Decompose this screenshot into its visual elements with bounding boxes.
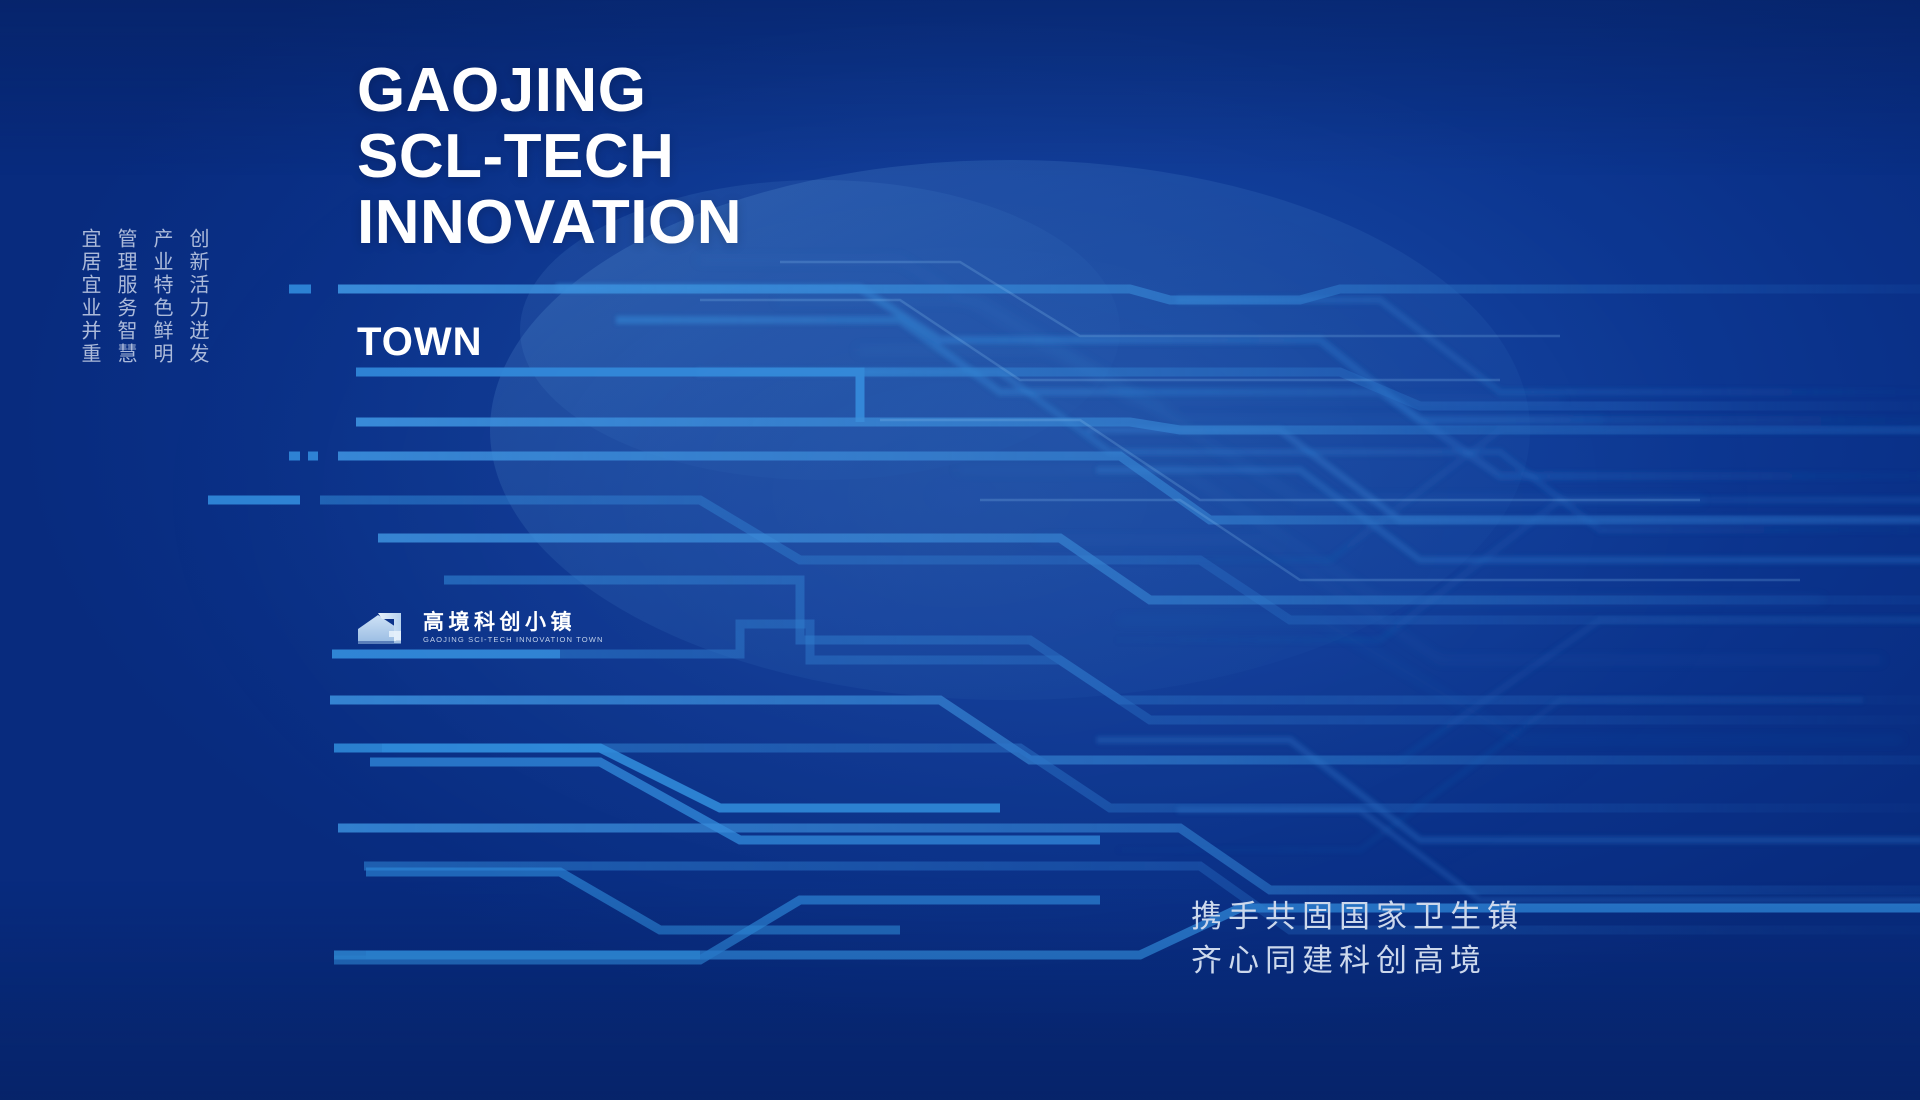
headline-line-3: INNOVATION (357, 190, 742, 256)
circuit-trace-artwork (0, 0, 1920, 1100)
poster-headline: GAOJING SCL-TECH INNOVATION (357, 58, 742, 256)
headline-line-2: SCL-TECH (357, 124, 742, 190)
headline-line-1: GAOJING (357, 58, 742, 124)
logo-name-en: GAOJING SCI-TECH INNOVATION TOWN (423, 634, 604, 646)
house-building-icon (356, 607, 412, 649)
logo-lockup: 高境科创小镇 GAOJING SCI-TECH INNOVATION TOWN (356, 607, 604, 649)
logo-text-block: 高境科创小镇 GAOJING SCI-TECH INNOVATION TOWN (423, 611, 604, 646)
vertical-slogan-column-2: 产业特色鲜明 (148, 228, 174, 366)
poster-canvas: 创新活力迸发 产业特色鲜明 管理服务智慧 宜居宜业并重 GAOJING SCL-… (0, 0, 1920, 1100)
tagline-line-2: 齐心同建科创高境 (1191, 939, 1524, 983)
vertical-slogan: 创新活力迸发 产业特色鲜明 管理服务智慧 宜居宜业并重 (76, 228, 210, 366)
vertical-slogan-column-4: 宜居宜业并重 (76, 228, 102, 366)
headline-line-4: TOWN (357, 322, 482, 362)
poster-tagline: 携手共固国家卫生镇 齐心同建科创高境 (1191, 895, 1524, 983)
vertical-slogan-column-1: 创新活力迸发 (184, 228, 210, 366)
logo-name-cn: 高境科创小镇 (423, 611, 604, 634)
tagline-line-1: 携手共固国家卫生镇 (1191, 895, 1524, 939)
vertical-slogan-column-3: 管理服务智慧 (112, 228, 138, 366)
